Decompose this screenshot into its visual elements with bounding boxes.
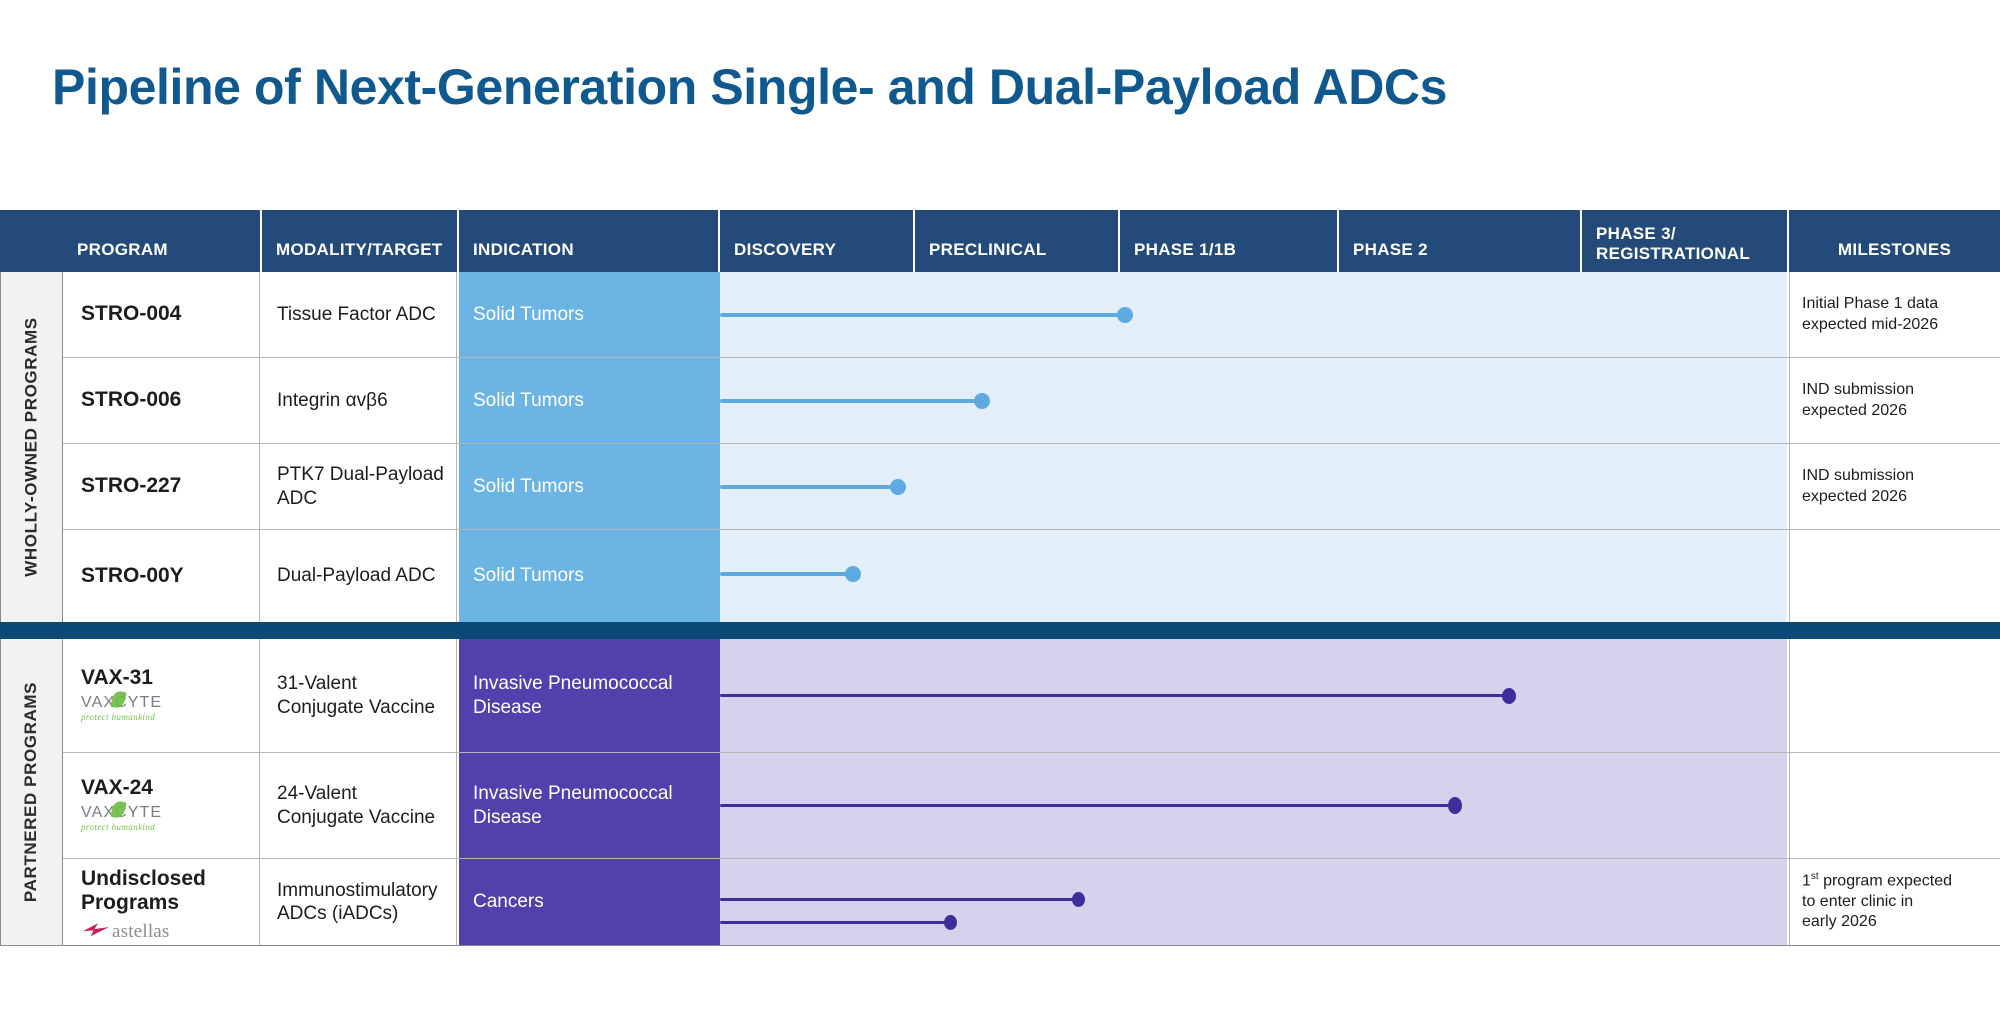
table-row[interactable]: STRO-006 Integrin αvβ6 Solid Tumors IND … bbox=[63, 358, 2000, 444]
cell-modality: Tissue Factor ADC bbox=[262, 272, 457, 357]
cell-modality: Dual-Payload ADC bbox=[262, 530, 457, 622]
program-name-line2: Programs bbox=[81, 891, 179, 915]
cell-milestones bbox=[1789, 639, 2000, 752]
column-header-phase3-line2: REGISTRATIONAL bbox=[1596, 244, 1787, 264]
program-name: STRO-004 bbox=[81, 302, 181, 326]
table-row[interactable]: STRO-227 PTK7 Dual-Payload ADC Solid Tum… bbox=[63, 444, 2000, 530]
milestone-line: early 2026 bbox=[1802, 912, 1877, 932]
column-header-discovery: DISCOVERY bbox=[720, 210, 913, 272]
cell-progress-track bbox=[720, 639, 1789, 752]
column-header-modality: MODALITY/TARGET bbox=[262, 210, 457, 272]
progress-bar bbox=[720, 694, 1509, 697]
pipeline-table: PROGRAM MODALITY/TARGET INDICATION DISCO… bbox=[0, 210, 2000, 946]
page-title: Pipeline of Next-Generation Single- and … bbox=[52, 58, 1447, 116]
cell-milestones: Initial Phase 1 data expected mid-2026 bbox=[1789, 272, 2000, 357]
astellas-logo: astellas bbox=[81, 919, 170, 945]
column-header-indication: INDICATION bbox=[459, 210, 718, 272]
cell-progress-track bbox=[720, 530, 1789, 622]
progress-bar bbox=[720, 485, 899, 489]
progress-bar bbox=[720, 313, 1126, 317]
table-header-row: PROGRAM MODALITY/TARGET INDICATION DISCO… bbox=[0, 210, 2000, 272]
column-header-milestones: MILESTONES bbox=[1789, 210, 2000, 272]
column-header-preclinical: PRECLINICAL bbox=[915, 210, 1118, 272]
program-name: VAX-24 bbox=[81, 776, 153, 800]
milestone-line: expected 2026 bbox=[1802, 487, 1907, 507]
milestone-line: expected mid-2026 bbox=[1802, 315, 1938, 335]
program-name: STRO-227 bbox=[81, 474, 181, 498]
cell-program: STRO-004 bbox=[63, 272, 260, 357]
cell-indication: Solid Tumors bbox=[459, 444, 720, 529]
program-name: STRO-006 bbox=[81, 388, 181, 412]
cell-progress-track bbox=[720, 753, 1789, 858]
cell-indication: Solid Tumors bbox=[459, 358, 720, 443]
progress-bar bbox=[720, 572, 854, 576]
cell-milestones: 1st program expected to enter clinic in … bbox=[1789, 859, 2000, 945]
milestone-line: to enter clinic in bbox=[1802, 892, 1913, 912]
progress-endpoint-dot bbox=[1448, 797, 1462, 814]
cell-program: Undisclosed Programs astellas bbox=[63, 859, 260, 945]
vaxcyte-tagline: protect humankind bbox=[81, 713, 193, 722]
milestone-ordinal-rest: program expected bbox=[1819, 872, 1952, 889]
progress-bar bbox=[720, 804, 1455, 807]
cell-modality: Integrin αvβ6 bbox=[262, 358, 457, 443]
cell-progress-track bbox=[720, 444, 1789, 529]
progress-endpoint-dot bbox=[1117, 307, 1133, 323]
table-row[interactable]: Undisclosed Programs astellas Immunostim… bbox=[63, 859, 2000, 946]
milestone-ordinal-number: 1 bbox=[1802, 872, 1811, 889]
column-header-phase3: PHASE 3/ REGISTRATIONAL bbox=[1582, 210, 1787, 272]
cell-milestones bbox=[1789, 530, 2000, 622]
vaxcyte-tagline: protect humankind bbox=[81, 823, 193, 832]
milestone-line: 1st program expected bbox=[1802, 871, 1952, 892]
cell-program: STRO-006 bbox=[63, 358, 260, 443]
column-header-phase1: PHASE 1/1B bbox=[1120, 210, 1337, 272]
progress-bar bbox=[720, 898, 1079, 901]
cell-program: STRO-227 bbox=[63, 444, 260, 529]
section-label-wholly-owned-text: WHOLLY-OWNED PROGRAMS bbox=[22, 317, 42, 576]
progress-endpoint-dot bbox=[845, 566, 861, 582]
cell-progress-track bbox=[720, 859, 1789, 945]
cell-program: STRO-00Y bbox=[63, 530, 260, 622]
column-header-program: PROGRAM bbox=[63, 210, 260, 272]
progress-endpoint-dot bbox=[944, 915, 957, 930]
program-name: VAX-31 bbox=[81, 666, 153, 690]
milestone-ordinal-suffix: st bbox=[1811, 871, 1819, 882]
cell-milestones bbox=[1789, 753, 2000, 858]
astellas-wordmark: astellas bbox=[112, 921, 170, 943]
progress-endpoint-dot bbox=[1072, 892, 1085, 907]
cell-progress-track bbox=[720, 358, 1789, 443]
milestone-line: expected 2026 bbox=[1802, 401, 1907, 421]
table-row[interactable]: STRO-00Y Dual-Payload ADC Solid Tumors bbox=[63, 530, 2000, 622]
cell-indication: Cancers bbox=[459, 859, 720, 945]
vaxcyte-wordmark: VAXCYTE bbox=[81, 805, 193, 821]
column-header-phase3-line1: PHASE 3/ bbox=[1596, 224, 1787, 244]
section-divider-band bbox=[0, 622, 2000, 639]
cell-progress-track bbox=[720, 272, 1789, 357]
cell-indication: Invasive Pneumococcal Disease bbox=[459, 639, 720, 752]
cell-indication: Invasive Pneumococcal Disease bbox=[459, 753, 720, 858]
vaxcyte-logo: VAXCYTE protect humankind bbox=[81, 805, 193, 835]
progress-endpoint-dot bbox=[974, 393, 990, 409]
cell-modality: PTK7 Dual-Payload ADC bbox=[262, 444, 457, 529]
table-row[interactable]: STRO-004 Tissue Factor ADC Solid Tumors … bbox=[63, 272, 2000, 358]
header-corner-spacer bbox=[0, 210, 63, 272]
astellas-star-icon bbox=[81, 922, 111, 942]
cell-modality: 24-Valent Conjugate Vaccine bbox=[262, 753, 457, 858]
cell-program: VAX-31 VAXCYTE protect humankind bbox=[63, 639, 260, 752]
cell-modality: Immunostimulatory ADCs (iADCs) bbox=[262, 859, 457, 945]
cell-modality: 31-Valent Conjugate Vaccine bbox=[262, 639, 457, 752]
program-name: Undisclosed bbox=[81, 867, 206, 891]
cell-milestones: IND submission expected 2026 bbox=[1789, 358, 2000, 443]
progress-endpoint-dot bbox=[890, 479, 906, 495]
table-row[interactable]: VAX-31 VAXCYTE protect humankind 31-Vale… bbox=[63, 639, 2000, 753]
milestone-line: IND submission bbox=[1802, 380, 1914, 400]
program-name: STRO-00Y bbox=[81, 564, 184, 588]
milestone-line: Initial Phase 1 data bbox=[1802, 294, 1938, 314]
cell-milestones: IND submission expected 2026 bbox=[1789, 444, 2000, 529]
cell-indication: Solid Tumors bbox=[459, 530, 720, 622]
vaxcyte-logo: VAXCYTE protect humankind bbox=[81, 695, 193, 725]
cell-program: VAX-24 VAXCYTE protect humankind bbox=[63, 753, 260, 858]
cell-indication: Solid Tumors bbox=[459, 272, 720, 357]
progress-endpoint-dot bbox=[1502, 688, 1516, 704]
vaxcyte-wordmark: VAXCYTE bbox=[81, 695, 193, 711]
milestone-line: IND submission bbox=[1802, 466, 1914, 486]
section-label-partnered: PARTNERED PROGRAMS bbox=[0, 639, 63, 946]
section-label-wholly-owned: WHOLLY-OWNED PROGRAMS bbox=[0, 272, 63, 622]
progress-bar bbox=[720, 921, 951, 924]
column-header-phase2: PHASE 2 bbox=[1339, 210, 1580, 272]
progress-bar bbox=[720, 399, 983, 403]
section-label-partnered-text: PARTNERED PROGRAMS bbox=[22, 682, 42, 902]
table-row[interactable]: VAX-24 VAXCYTE protect humankind 24-Vale… bbox=[63, 753, 2000, 859]
